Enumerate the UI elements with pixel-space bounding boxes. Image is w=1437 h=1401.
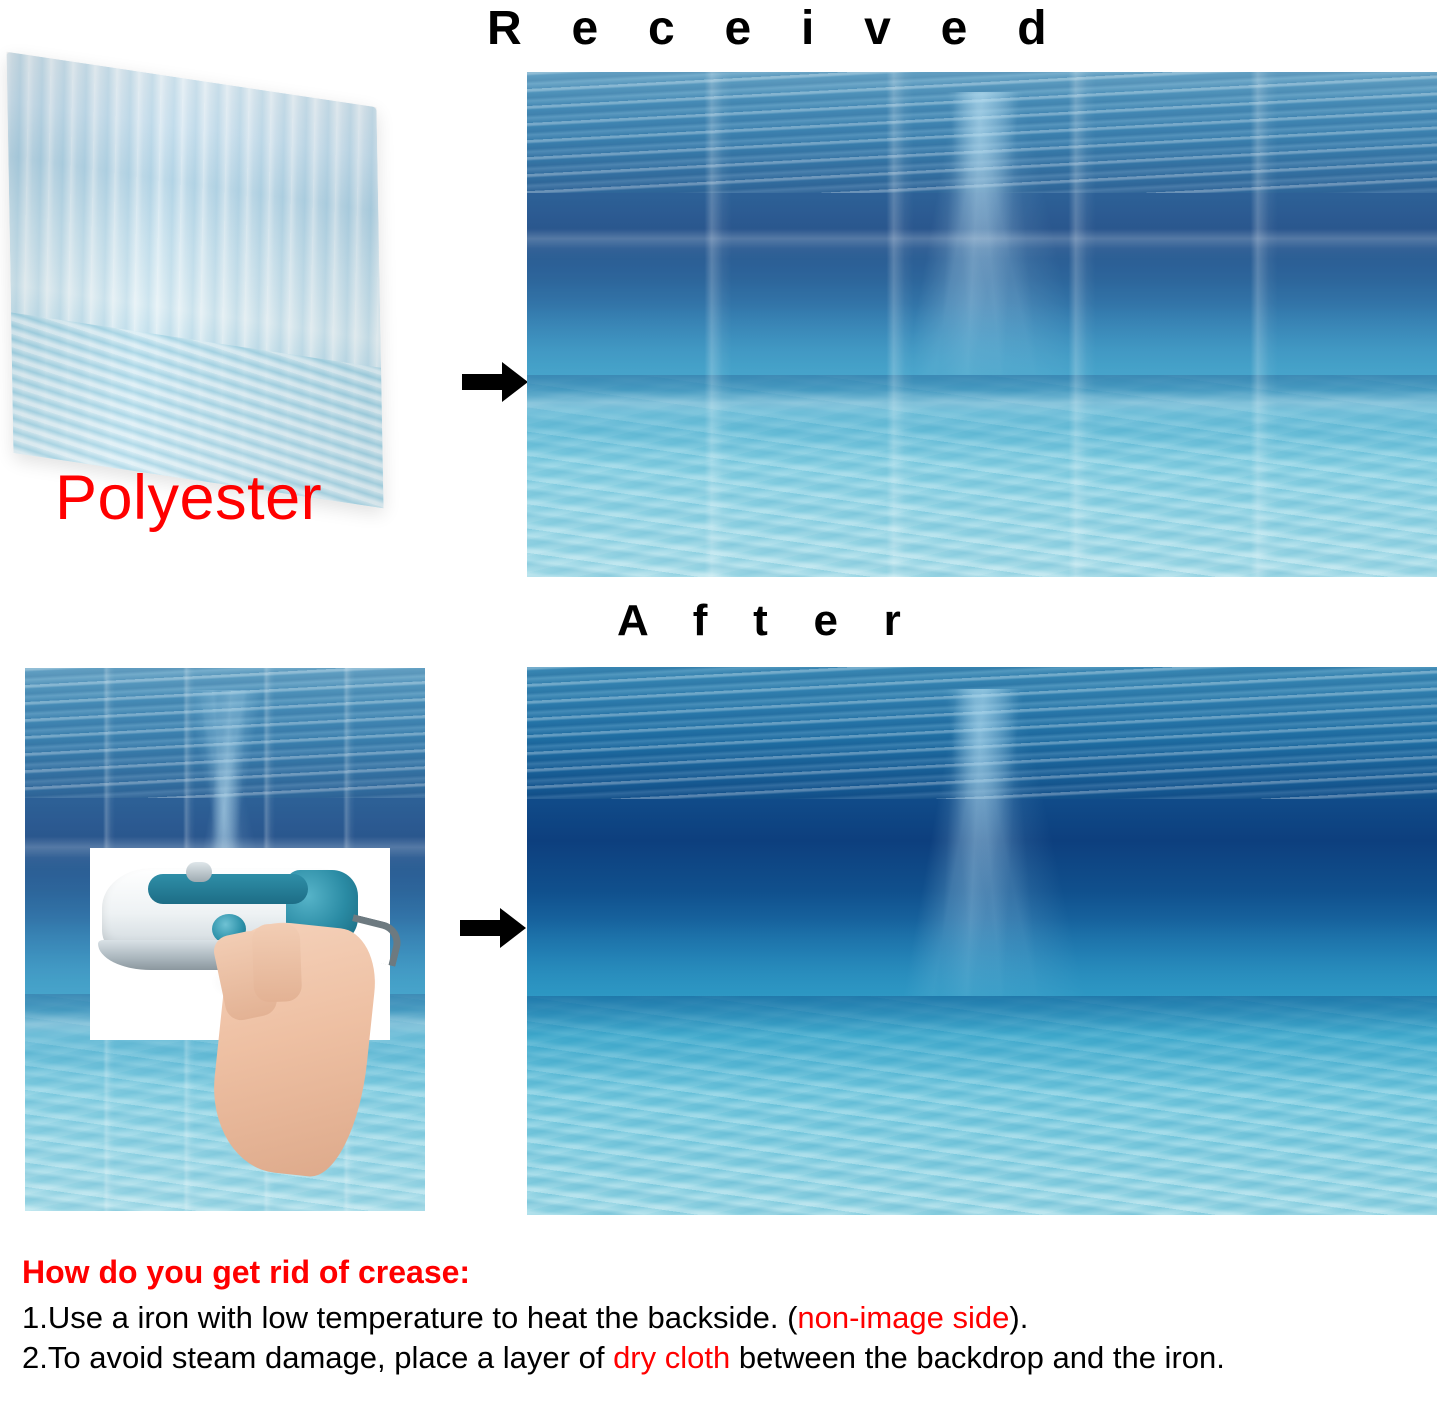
heading-after: A f t e r <box>617 596 917 646</box>
polyester-label: Polyester <box>55 462 322 534</box>
folded-cloth-shading <box>7 52 384 509</box>
instruction-line-2-part2: between the backdrop and the iron. <box>730 1340 1225 1375</box>
iron-steam-knob <box>186 862 212 882</box>
heading-received: R e c e i v e d <box>487 2 1065 56</box>
folded-cloth-body <box>7 52 384 509</box>
received-backdrop-image <box>527 72 1437 577</box>
right-arrow-icon <box>460 906 526 950</box>
instruction-line-2: 2.To avoid steam damage, place a layer o… <box>22 1338 1422 1378</box>
after-backdrop-image <box>527 667 1437 1215</box>
sand-caustics <box>527 375 1437 577</box>
instruction-line-1-highlight: non-image side <box>797 1300 1009 1335</box>
sand-caustics <box>527 996 1437 1215</box>
finger <box>252 923 303 1003</box>
instruction-line-1-part1: 1.Use a iron with low temperature to hea… <box>22 1300 797 1335</box>
sand-fade <box>527 304 1437 375</box>
folded-cloth-photo <box>0 70 470 510</box>
instruction-line-1: 1.Use a iron with low temperature to hea… <box>22 1298 1422 1338</box>
instructions-title: How do you get rid of crease: <box>22 1252 1422 1292</box>
instruction-line-1-part2: ). <box>1009 1300 1028 1335</box>
sand-fade <box>527 919 1437 996</box>
instruction-line-2-highlight: dry cloth <box>613 1340 730 1375</box>
instruction-line-2-part1: 2.To avoid steam damage, place a layer o… <box>22 1340 613 1375</box>
instructions-block: How do you get rid of crease: 1.Use a ir… <box>22 1252 1422 1378</box>
right-arrow-icon <box>462 360 528 404</box>
iron-handle <box>148 874 308 904</box>
iron-and-hand-photo <box>90 848 390 1040</box>
